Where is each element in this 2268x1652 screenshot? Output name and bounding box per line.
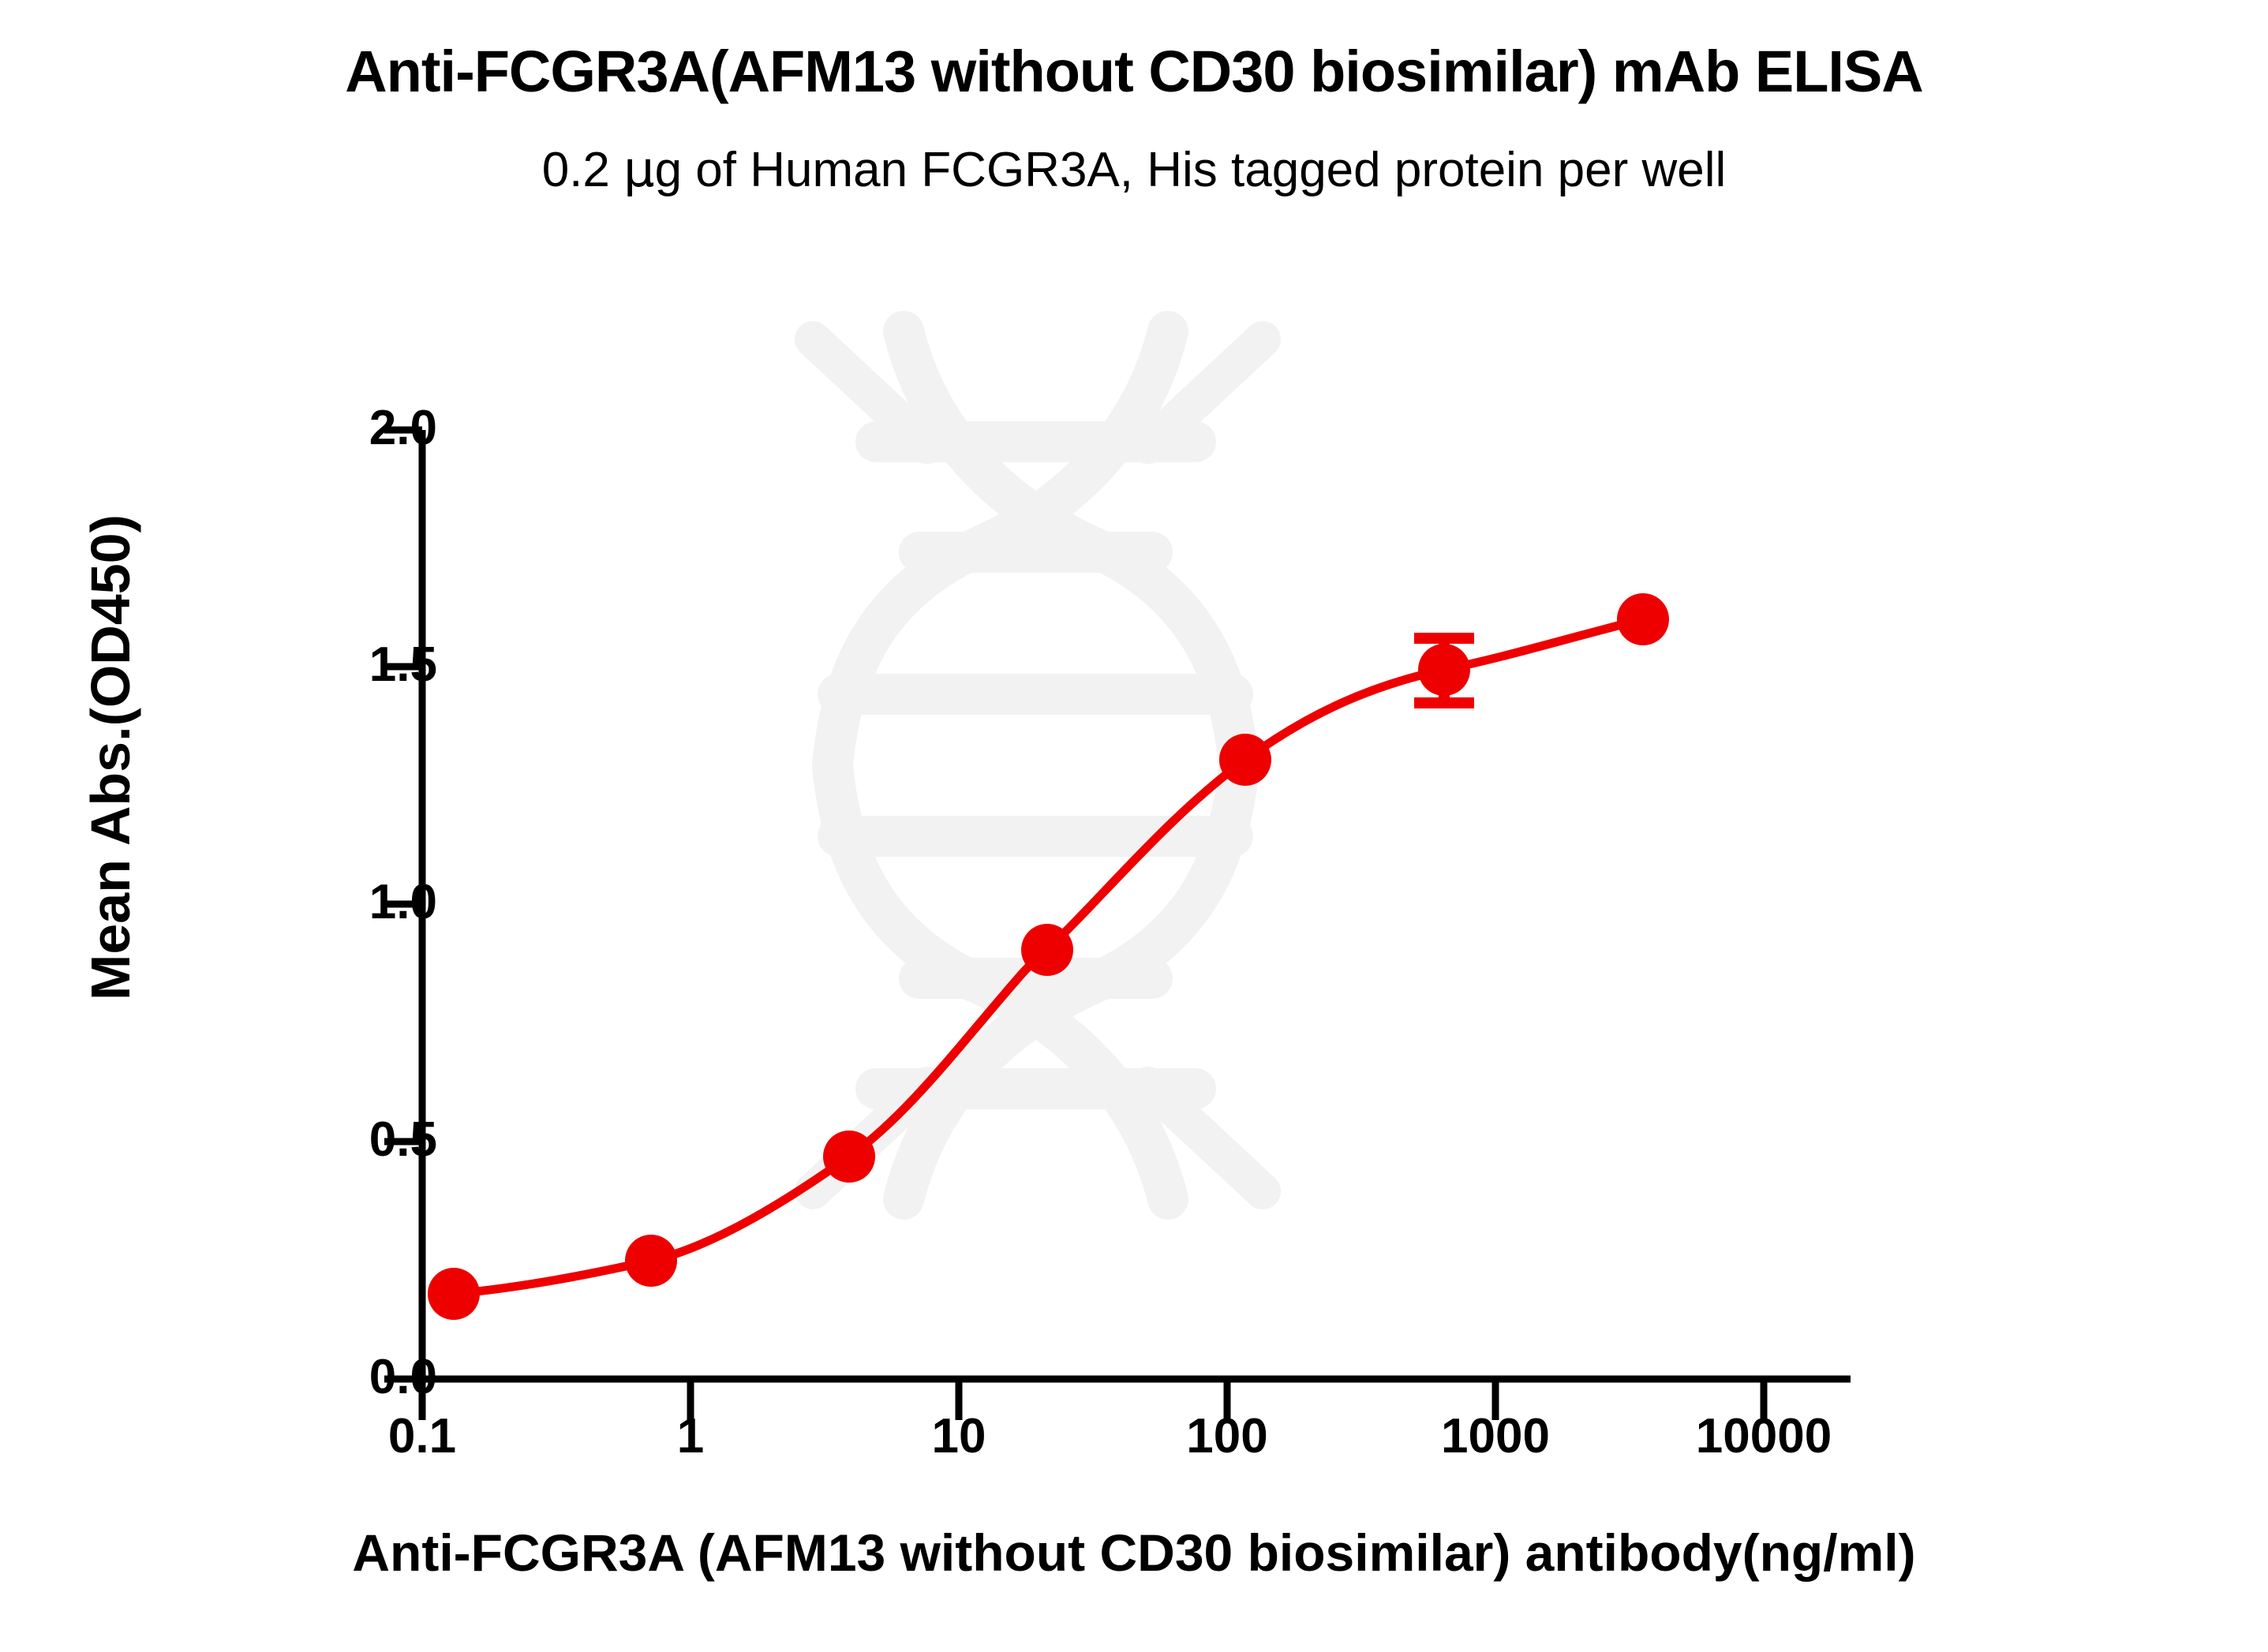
data-point <box>1617 593 1669 645</box>
y-tick-label: 2.0 <box>369 404 437 453</box>
y-tick-label: 1.0 <box>369 878 437 927</box>
x-tick-label: 0.1 <box>304 1412 541 1461</box>
data-point <box>1219 734 1271 786</box>
data-point <box>1418 644 1470 696</box>
y-axis-title: Mean Abs.(OD450) <box>79 402 142 1112</box>
chart-svg <box>0 0 2268 1652</box>
watermark-dna-icon <box>813 331 1263 1199</box>
y-tick-label: 0.0 <box>369 1353 437 1402</box>
x-tick-label: 100 <box>1109 1412 1345 1461</box>
data-point <box>1021 924 1073 976</box>
y-tick-label: 0.5 <box>369 1116 437 1164</box>
data-point <box>625 1235 677 1287</box>
plot-area: 2.0 1.5 1.0 0.5 0.0 0.1 1 10 100 1000 10… <box>0 0 2268 1652</box>
x-tick-label: 1000 <box>1377 1412 1614 1461</box>
x-tick-label: 10 <box>840 1412 1077 1461</box>
data-point <box>823 1131 875 1183</box>
figure-page: Anti-FCGR3A(AFM13 without CD30 biosimila… <box>0 0 2268 1652</box>
x-axis-title: Anti-FCGR3A (AFM13 without CD30 biosimil… <box>0 1523 2268 1583</box>
x-tick-label: 1 <box>572 1412 809 1461</box>
data-point <box>428 1268 480 1320</box>
x-tick-label: 10000 <box>1645 1412 1882 1461</box>
y-tick-label: 1.5 <box>369 641 437 690</box>
